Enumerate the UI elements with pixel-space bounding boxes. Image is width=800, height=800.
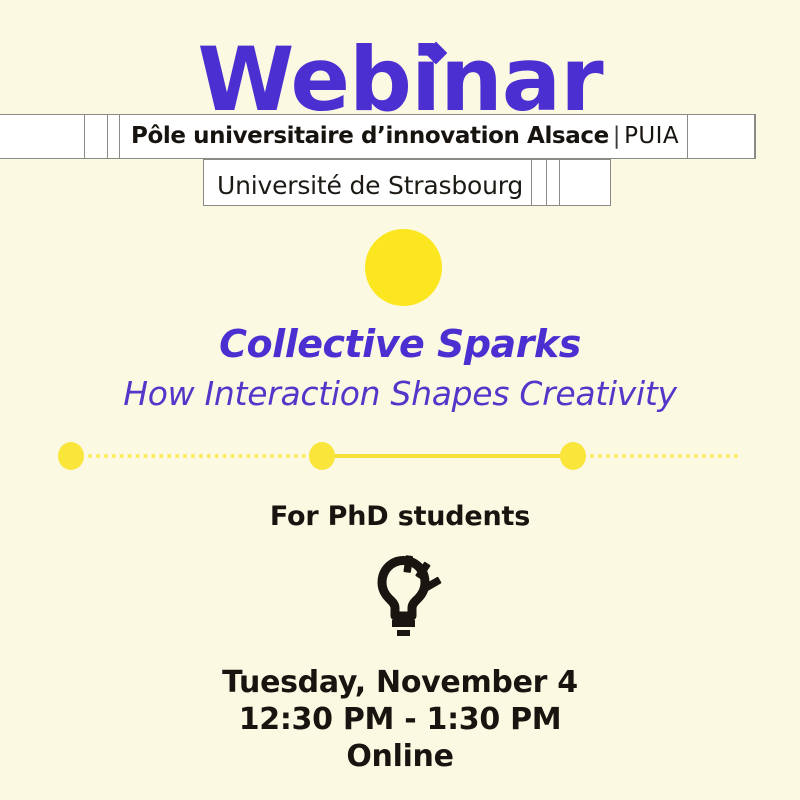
logo-divider (119, 115, 120, 158)
logo-acronym: PUIA (624, 123, 679, 149)
talk-subtitle: How Interaction Shapes Creativity (0, 374, 800, 413)
logo-divider (559, 160, 560, 205)
lightbulb-icon (367, 554, 443, 636)
divider-dot (560, 442, 586, 470)
event-time: 12:30 PM - 1:30 PM (0, 701, 800, 738)
logo-secondary-line: Université de Strasbourg (217, 171, 523, 200)
page-title: Webinar (0, 33, 800, 127)
divider-segment-dotted-left (88, 454, 314, 458)
decorative-divider (0, 430, 800, 480)
logo-divider (546, 160, 547, 205)
event-date: Tuesday, November 4 (0, 664, 800, 701)
institution-logo: Pôle universitaire d’innovation Alsace|P… (0, 114, 800, 210)
logo-name: Pôle universitaire d’innovation Alsace (131, 123, 609, 149)
logo-divider (84, 115, 85, 158)
logo-primary-line: Pôle universitaire d’innovation Alsace|P… (131, 123, 679, 149)
logo-divider (531, 160, 532, 205)
divider-dot (58, 442, 84, 470)
logo-separator: | (609, 123, 624, 149)
divider-segment-solid (322, 454, 574, 458)
logo-divider (754, 115, 755, 158)
divider-segment-dotted-right (582, 454, 738, 458)
yellow-circle-decoration (365, 229, 442, 306)
webinar-poster: Webinar Pôle universitaire d’innovation … (0, 0, 800, 800)
event-location: Online (0, 738, 800, 775)
audience-label: For PhD students (0, 501, 800, 532)
logo-divider (107, 115, 108, 158)
talk-title: Collective Sparks (0, 322, 800, 366)
logo-divider (687, 115, 688, 158)
event-details: Tuesday, November 4 12:30 PM - 1:30 PM O… (0, 664, 800, 775)
divider-dot (309, 442, 335, 470)
